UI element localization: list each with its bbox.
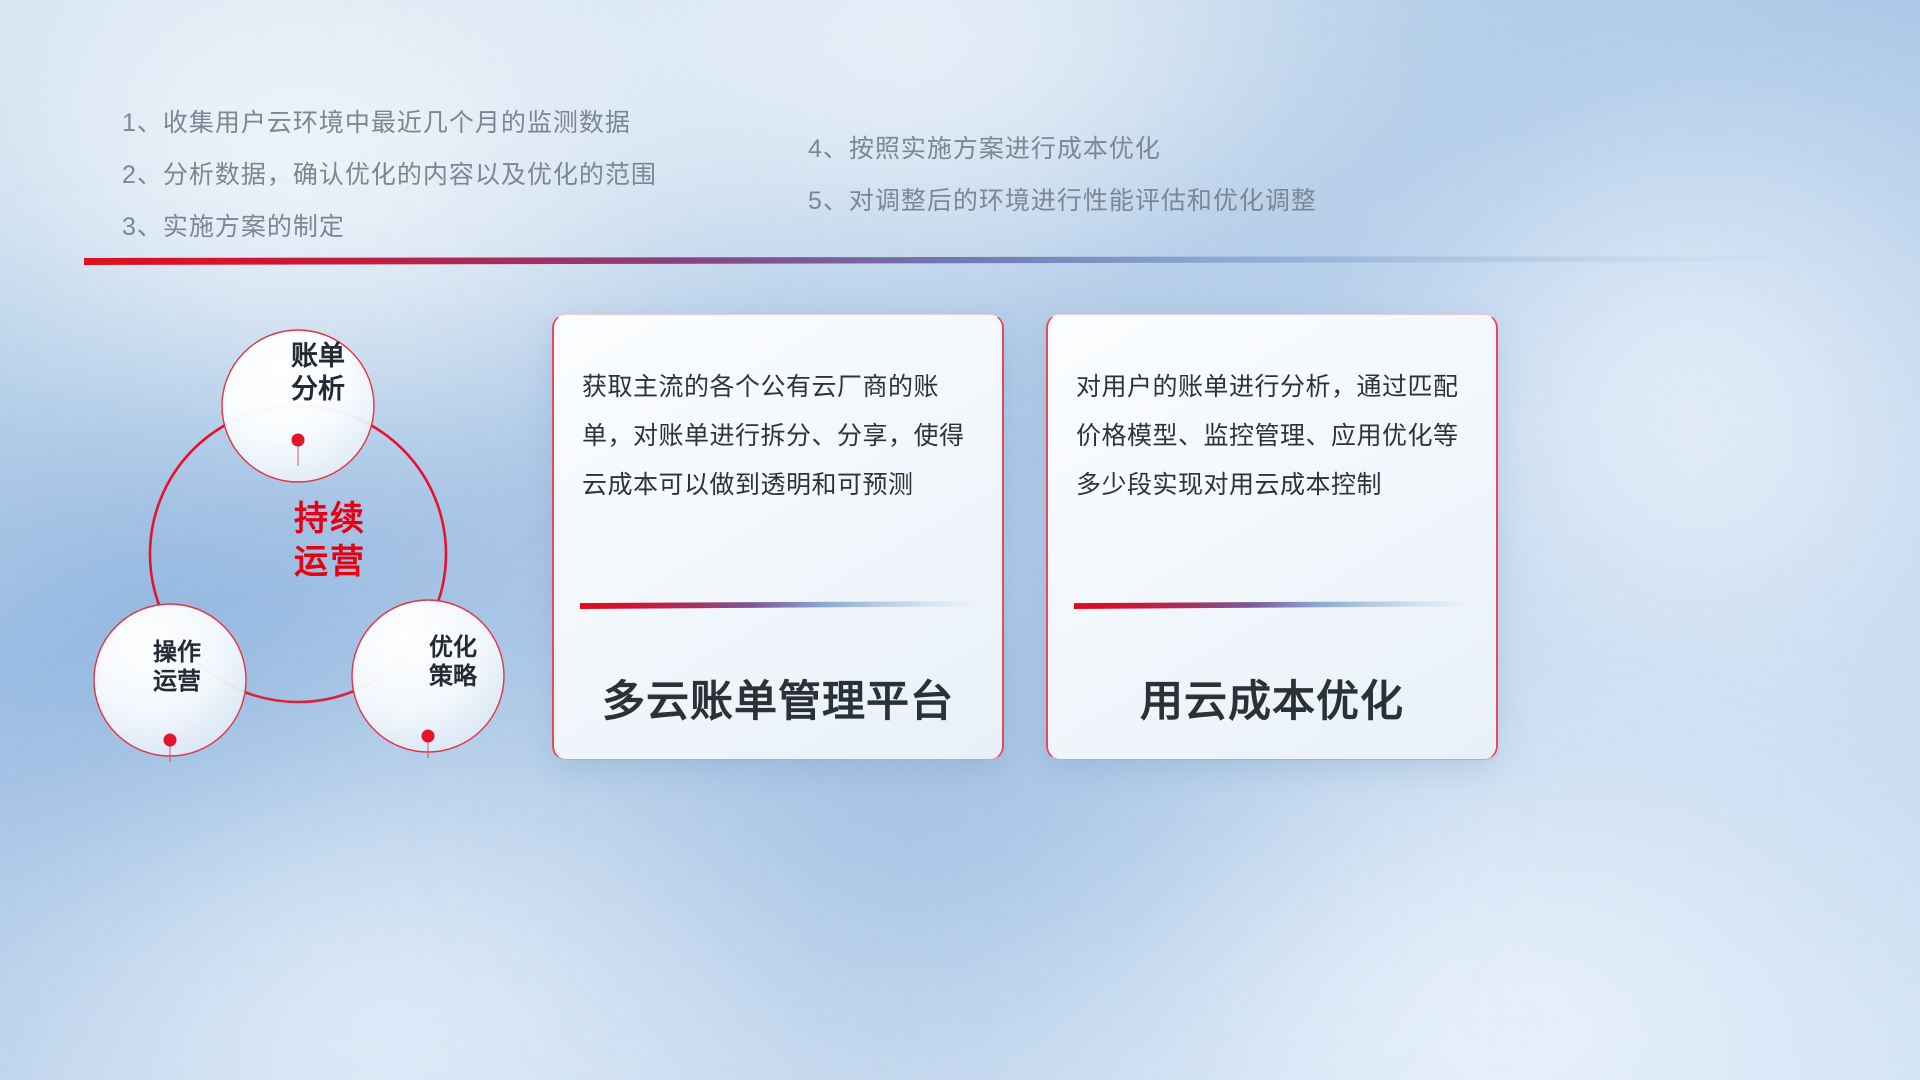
card-divider: [580, 601, 978, 609]
card-cloud-cost-optimization[interactable]: 对用户的账单进行分析，通过匹配价格模型、监控管理、应用优化等多少段实现对用云成本…: [1046, 314, 1498, 760]
step-item-2: 2、分析数据，确认优化的内容以及优化的范围: [122, 155, 657, 191]
venn-label-bottom-right: 优化 策略: [398, 633, 508, 692]
process-step-list: 1、收集用户云环境中最近几个月的监测数据 2、分析数据，确认优化的内容以及优化的…: [0, 0, 1920, 260]
card-title: 用云成本优化: [1048, 667, 1496, 729]
venn-node-dot-top: [292, 434, 305, 447]
venn-label-bottom-left: 操作 运营: [122, 638, 232, 697]
venn-node-dot-bottom-right: [422, 730, 435, 743]
card-body-text: 对用户的账单进行分析，通过匹配价格模型、监控管理、应用优化等多少段实现对用云成本…: [1076, 363, 1470, 509]
step-item-4: 4、按照实施方案进行成本优化: [808, 129, 1161, 165]
step-item-3: 3、实施方案的制定: [122, 207, 345, 243]
step-item-1: 1、收集用户云环境中最近几个月的监测数据: [122, 103, 631, 139]
card-body-text: 获取主流的各个公有云厂商的账单，对账单进行拆分、分享，使得云成本可以做到透明和可…: [582, 363, 976, 509]
section-divider: [84, 256, 1840, 265]
card-title: 多云账单管理平台: [554, 667, 1002, 729]
card-divider-bar: [1074, 601, 1472, 609]
card-multi-cloud-bill-platform[interactable]: 获取主流的各个公有云厂商的账单，对账单进行拆分、分享，使得云成本可以做到透明和可…: [552, 314, 1004, 760]
venn-node-dot-bottom-left: [164, 734, 177, 747]
section-divider-bar: [84, 256, 1840, 265]
continuous-operations-diagram: 账单 分析 操作 运营 优化 策略 持续 运营: [80, 290, 550, 790]
step-item-5: 5、对调整后的环境进行性能评估和优化调整: [808, 181, 1317, 217]
venn-label-top: 账单 分析: [258, 340, 378, 406]
venn-label-center: 持续 运营: [260, 498, 400, 583]
card-divider: [1074, 601, 1472, 609]
card-divider-bar: [580, 601, 978, 609]
